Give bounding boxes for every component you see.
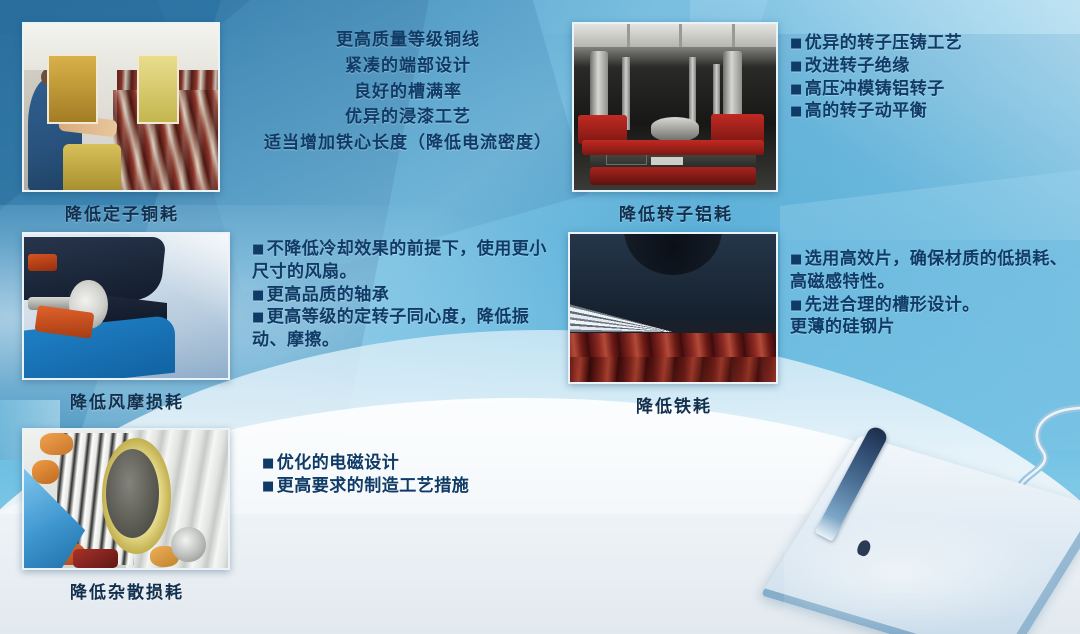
bullet-1: 不降低冷却效果的前提下，使用更小尺寸的风扇。 — [252, 238, 552, 284]
block-stray-loss: 降低杂散损耗 — [22, 428, 232, 603]
bullet-2: 更高品质的轴承 — [252, 284, 552, 307]
stator-lamination-photo — [568, 232, 778, 384]
text-stray-loss: 优化的电磁设计 更高要求的制造工艺措施 — [262, 452, 582, 498]
caption-windage-friction-loss: 降低风摩损耗 — [22, 388, 232, 413]
block-rotor-aluminum-loss: 降低转子铝耗 — [572, 22, 780, 225]
bullet-2: 更高要求的制造工艺措施 — [262, 475, 582, 498]
die-casting-press-photo — [572, 22, 778, 192]
line-2: 紧凑的端部设计 — [258, 54, 558, 80]
slide-canvas: 降低定子铜耗 更高质量等级铜线 紧凑的端部设计 良好的槽满率 优异的浸漆工艺 适… — [0, 0, 1080, 634]
line-3: 良好的槽满率 — [258, 80, 558, 106]
caption-stray-loss: 降低杂散损耗 — [22, 578, 232, 603]
block-iron-loss: 降低铁耗 — [568, 232, 780, 417]
caption-stator-copper-loss: 降低定子铜耗 — [22, 200, 222, 225]
text-iron-loss: 选用高效片，确保材质的低损耗、高磁感特性。 先进合理的槽形设计。 更薄的硅钢片 — [790, 248, 1074, 339]
bullet-4: 高的转子动平衡 — [790, 100, 1070, 123]
block-windage-friction-loss: 降低风摩损耗 — [22, 232, 232, 413]
motor-assembly-photo — [22, 428, 230, 570]
bullet-1: 选用高效片，确保材质的低损耗、高磁感特性。 — [790, 248, 1074, 294]
text-windage-friction-loss: 不降低冷却效果的前提下，使用更小尺寸的风扇。 更高品质的轴承 更高等级的定转子同… — [252, 238, 552, 352]
caption-iron-loss: 降低铁耗 — [568, 392, 780, 417]
fan-grinder-machine-photo — [22, 232, 230, 380]
bullet-3: 更高等级的定转子同心度，降低振动、摩擦。 — [252, 306, 552, 352]
text-stator-copper-loss: 更高质量等级铜线 紧凑的端部设计 良好的槽满率 优异的浸漆工艺 适当增加铁心长度… — [258, 28, 558, 157]
bullet-2: 改进转子绝缘 — [790, 55, 1070, 78]
bullet-2: 先进合理的槽形设计。 — [790, 294, 1074, 317]
line-5: 适当增加铁心长度（降低电流密度） — [258, 131, 558, 157]
line-4: 优异的浸漆工艺 — [258, 105, 558, 131]
bullet-1: 优化的电磁设计 — [262, 452, 582, 475]
text-rotor-aluminum-loss: 优异的转子压铸工艺 改进转子绝缘 高压冲模铸铝转子 高的转子动平衡 — [790, 32, 1070, 123]
bullet-3: 高压冲模铸铝转子 — [790, 78, 1070, 101]
stator-winding-photo — [22, 22, 220, 192]
block-stator-copper-loss: 降低定子铜耗 — [22, 22, 222, 225]
line-1: 更高质量等级铜线 — [258, 28, 558, 54]
trailing-line: 更薄的硅钢片 — [790, 316, 1074, 339]
graphics-tablet-illustration — [780, 400, 1080, 634]
caption-rotor-aluminum-loss: 降低转子铝耗 — [572, 200, 780, 225]
bullet-1: 优异的转子压铸工艺 — [790, 32, 1070, 55]
